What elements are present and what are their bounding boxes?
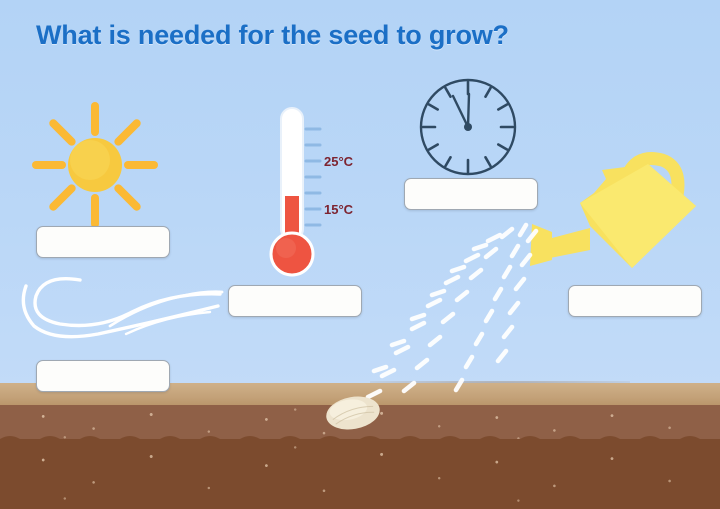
worksheet-canvas: What is needed for the seed to grow? [0,0,720,509]
page-title: What is needed for the seed to grow? [36,20,509,51]
water-spray-icon [350,215,570,405]
clock-icon [413,72,523,182]
answer-box-water[interactable] [568,285,702,317]
answer-box-time[interactable] [404,178,538,210]
clock-minute-hand [468,94,469,127]
seed-icon [322,392,384,434]
soil-layer-bottom [0,439,720,509]
answer-box-temperature[interactable] [228,285,362,317]
sun-icon [30,100,160,230]
wind-icon [14,268,224,342]
clock-hour-hand [453,96,468,127]
answer-box-sun[interactable] [36,226,170,258]
answer-box-air[interactable] [36,360,170,392]
thermometer-label-high: 25°C [324,154,354,169]
